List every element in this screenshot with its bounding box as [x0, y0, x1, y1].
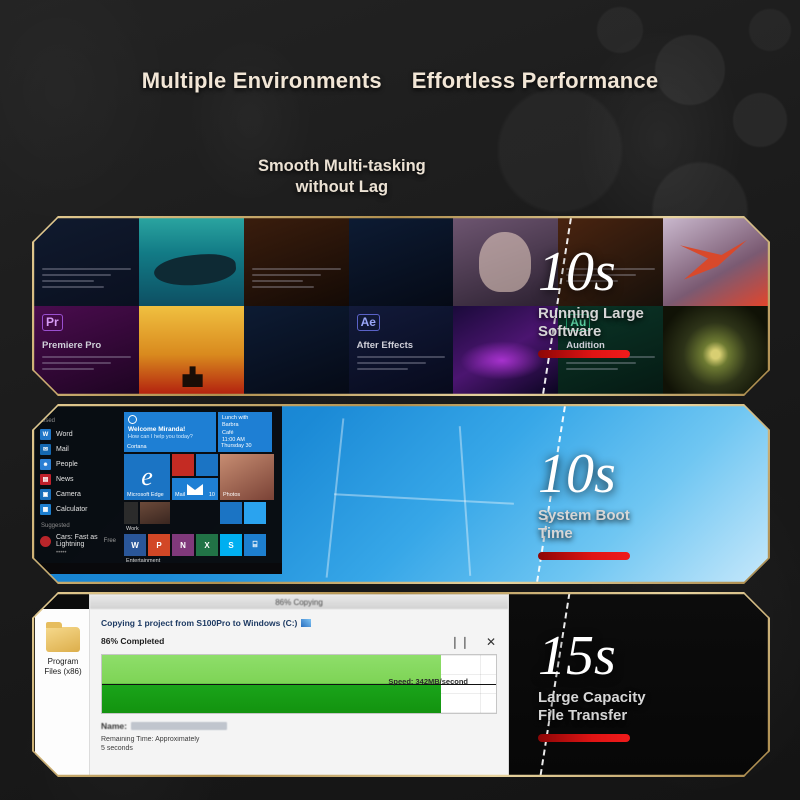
envelope-icon [187, 484, 203, 495]
stat-block-large-capacity-file-transfer: 15s Large Capacity File Transfer [538, 630, 646, 742]
excel-tile[interactable]: X [196, 534, 218, 556]
tile-text-lines [566, 356, 655, 374]
copy-heading: Copying 1 project from S100Pro to Window… [101, 618, 297, 628]
cortana-tile[interactable]: Welcome Miranda! How can I help you toda… [124, 412, 216, 452]
onenote-tile[interactable]: N [172, 534, 194, 556]
copy-completed-text: 86% Completed [101, 636, 497, 646]
tile-subrow [124, 502, 170, 524]
stat-value: 10s [538, 246, 644, 299]
skype-tile[interactable]: S [220, 534, 242, 556]
news-tile[interactable] [172, 454, 194, 476]
panel-running-large-software[interactable]: Pr Premiere Pro Ae After Effects Au Audi… [32, 216, 770, 396]
stat-label: System Boot Time [538, 507, 630, 542]
start-item-label: People [56, 461, 78, 468]
panel-large-capacity-file-transfer[interactable]: 86% Copying Program Files (x86) Copying … [32, 592, 770, 777]
desktop-logo-line [326, 418, 345, 577]
start-item-label: Word [56, 431, 73, 438]
windows-taskbar[interactable] [34, 563, 282, 574]
store-tile[interactable] [220, 502, 242, 524]
panel-1-content: Pr Premiere Pro Ae After Effects Au Audi… [34, 218, 768, 394]
stat-label-line-1: Running Large [538, 305, 644, 323]
start-item-label: Mail [56, 446, 69, 453]
book-tile[interactable] [124, 502, 138, 524]
headline-right: Effortless Performance [412, 68, 659, 94]
file-name-value [131, 722, 227, 730]
tile-column: Mail 10 [172, 454, 218, 524]
panel-system-boot-time[interactable]: Used W Word ✉ Mail ☻ People ▤ News [32, 404, 770, 584]
file-name-label: Name: [101, 721, 127, 731]
car-glow-shape [460, 341, 544, 380]
tile-column: Photos [220, 454, 274, 524]
folder-label-line-2: Files (x86) [37, 667, 89, 677]
start-menu-tiles: Welcome Miranda! How can I help you toda… [122, 406, 282, 574]
camera-icon: ▣ [40, 489, 51, 500]
panel-3-content: 86% Copying Program Files (x86) Copying … [34, 594, 768, 775]
remaining-time: Remaining Time: Approximately 5 seconds [101, 735, 497, 753]
subtitle: Smooth Multi-tasking without Lag [258, 156, 426, 197]
photos-tile[interactable]: Photos [220, 454, 274, 500]
folder-label-line-1: Program [37, 657, 89, 667]
stat-label-line-2: Software [538, 323, 644, 341]
folder-pane[interactable]: Program Files (x86) [35, 609, 90, 777]
edge-icon: e [141, 462, 153, 492]
app-tile-premiere-pro[interactable]: Pr Premiere Pro [34, 306, 139, 394]
stat-accent-bar [538, 552, 630, 560]
mail-tile[interactable]: Mail 10 [172, 478, 218, 500]
stat-value: 15s [538, 630, 646, 683]
word-tile[interactable]: W [124, 534, 146, 556]
calculator-tile[interactable]: ⌸ [244, 534, 266, 556]
suggested-app-price: Free [104, 538, 116, 544]
cortana-greeting: Welcome Miranda! [128, 426, 212, 433]
explorer-title-bar: 86% Copying [90, 595, 508, 609]
tile-text-lines [252, 268, 341, 292]
stat-label-line-1: System Boot [538, 507, 630, 525]
remaining-time-line-1: Remaining Time: Approximately [101, 735, 497, 744]
start-item-camera[interactable]: ▣ Camera [34, 487, 122, 502]
app-tile[interactable] [34, 218, 139, 306]
tile-text-lines [42, 356, 131, 374]
start-item-calculator[interactable]: ▦ Calculator [34, 502, 122, 517]
windows-start-menu[interactable]: Used W Word ✉ Mail ☻ People ▤ News [34, 406, 282, 574]
stat-label: Running Large Software [538, 305, 644, 340]
start-item-news[interactable]: ▤ News [34, 472, 122, 487]
pause-button[interactable]: ❘❘ [450, 635, 470, 649]
photos-label: Photos [223, 492, 240, 498]
tile-row: Welcome Miranda! How can I help you toda… [124, 412, 278, 452]
remaining-time-line-2: 5 seconds [101, 744, 497, 753]
stat-label: Large Capacity File Transfer [538, 689, 646, 724]
start-section-used: Used [34, 418, 122, 424]
stat-accent-bar [538, 734, 630, 742]
face-tile[interactable] [140, 502, 170, 524]
transfer-chart-icon [301, 619, 311, 627]
cortana-prompt: How can I help you today? [128, 434, 212, 440]
app-tile[interactable] [244, 218, 349, 306]
copy-heading-row: Copying 1 project from S100Pro to Window… [101, 618, 497, 628]
tile-subrow [172, 454, 218, 476]
file-name-row: Name: [101, 721, 497, 731]
tile-row: e Microsoft Edge [124, 454, 278, 524]
tips-tile[interactable] [196, 454, 218, 476]
folder-icon [46, 627, 80, 652]
mail-unread-count: 10 [209, 492, 215, 498]
stat-label-line-1: Large Capacity [538, 689, 646, 707]
word-icon: W [40, 429, 51, 440]
cortana-icon [128, 415, 137, 424]
start-item-label: Calculator [56, 506, 88, 513]
app-tile[interactable] [663, 218, 768, 306]
panel-2-content: Used W Word ✉ Mail ☻ People ▤ News [34, 406, 768, 582]
start-item-label: News [56, 476, 74, 483]
calendar-line-2: Barbra [222, 422, 268, 429]
explorer-window[interactable]: 86% Copying Program Files (x86) Copying … [89, 594, 509, 777]
bicycle-shape [179, 361, 206, 387]
app-tile[interactable] [244, 306, 349, 394]
suggested-app-label: Cars: Fast as Lightning [56, 534, 99, 548]
start-item-label: Camera [56, 491, 81, 498]
edge-tile[interactable]: e Microsoft Edge [124, 454, 170, 500]
close-button[interactable]: ✕ [486, 635, 496, 649]
calendar-line-3: Café [222, 430, 268, 437]
app-tile[interactable] [663, 306, 768, 394]
tile-text-lines [357, 356, 446, 374]
copy-progress-dialog: Copying 1 project from S100Pro to Window… [90, 609, 508, 777]
calendar-line-1: Lunch with [222, 415, 268, 422]
whale-shape [152, 251, 236, 288]
tile-text-lines [42, 268, 131, 292]
transfer-speed-label: Speed: 342MB/second [388, 677, 468, 686]
tile-subrow [220, 502, 274, 524]
mail-tile-label: Mail [175, 492, 185, 498]
stat-label-line-2: File Transfer [538, 707, 646, 725]
subtitle-line-2: without Lag [258, 177, 426, 198]
stat-accent-bar [538, 350, 630, 358]
progress-graph: Speed: 342MB/second [101, 654, 497, 714]
calendar-day: Thursday 30 [221, 443, 252, 450]
start-item-mail[interactable]: ✉ Mail [34, 442, 122, 457]
folder-label: Program Files (x86) [37, 657, 89, 677]
butterfly-shape [680, 237, 747, 281]
file-explorer-background: 86% Copying Program Files (x86) Copying … [34, 594, 768, 775]
stat-value: 10s [538, 448, 630, 501]
copy-dialog-controls: ❘❘ ✕ [450, 635, 496, 649]
twitter-tile[interactable] [244, 502, 266, 524]
tile-group-work-label: Work [126, 526, 278, 532]
premiere-pro-icon: Pr [42, 314, 63, 331]
headline-left: Multiple Environments [142, 68, 382, 94]
app-tile[interactable] [139, 218, 244, 306]
start-menu-app-list: Used W Word ✉ Mail ☻ People ▤ News [34, 406, 122, 574]
figure-shape [479, 232, 531, 292]
start-item-suggested-app[interactable]: Cars: Fast as Lightning Free [34, 532, 122, 550]
app-tile-after-effects[interactable]: Ae After Effects [349, 306, 454, 394]
app-tile-label: Premiere Pro [42, 340, 101, 351]
start-item-people[interactable]: ☻ People [34, 457, 122, 472]
after-effects-icon: Ae [357, 314, 380, 331]
stat-label-line-2: Time [538, 525, 630, 543]
suggested-app-rating: ••••• [34, 550, 122, 556]
start-item-word[interactable]: W Word [34, 427, 122, 442]
stat-block-running-large-software: 10s Running Large Software [538, 246, 644, 358]
powerpoint-tile[interactable]: P [148, 534, 170, 556]
office-tile-row: W P N X S ⌸ [124, 534, 278, 556]
desktop-logo-line [334, 493, 514, 504]
news-icon: ▤ [40, 474, 51, 485]
calculator-icon: ▦ [40, 504, 51, 515]
calendar-tile[interactable]: Lunch with Barbra Café 11:00 AM Thursday… [218, 412, 272, 452]
mail-icon: ✉ [40, 444, 51, 455]
app-tile[interactable] [349, 218, 454, 306]
cortana-label: Cortana [127, 444, 147, 450]
start-section-suggested: Suggested [34, 523, 122, 529]
people-icon: ☻ [40, 459, 51, 470]
adobe-app-grid: Pr Premiere Pro Ae After Effects Au Audi… [34, 218, 768, 394]
edge-label: Microsoft Edge [127, 492, 164, 498]
headline-row: Multiple Environments Effortless Perform… [0, 68, 800, 94]
game-icon [40, 536, 51, 547]
subtitle-line-1: Smooth Multi-tasking [258, 156, 426, 177]
app-tile[interactable] [139, 306, 244, 394]
tile-column: e Microsoft Edge [124, 454, 170, 524]
app-tile-label: After Effects [357, 340, 414, 351]
stat-block-system-boot-time: 10s System Boot Time [538, 448, 630, 560]
